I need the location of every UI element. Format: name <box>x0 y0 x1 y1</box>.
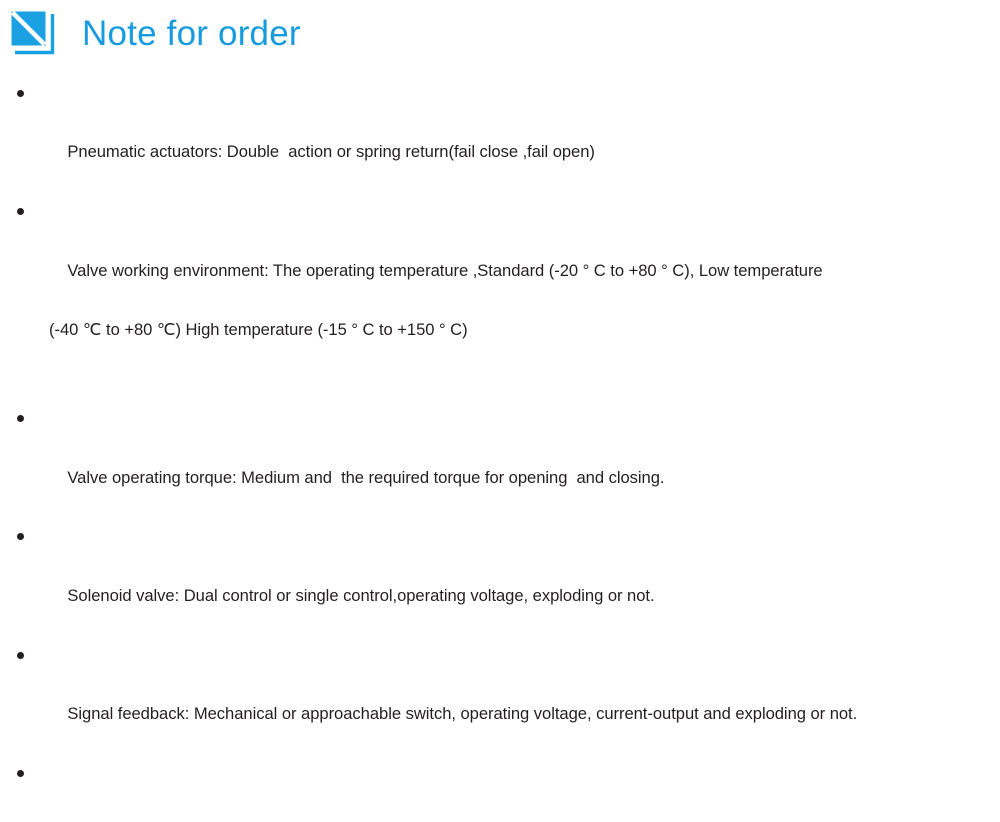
bullet-icon <box>17 90 24 97</box>
page-title: Note for order <box>82 14 301 54</box>
list-item: Signal feedback: Mechanical or approacha… <box>0 640 1000 758</box>
note-for-order-page: Note for order Pneumatic actuators: Doub… <box>0 0 1000 411</box>
note-list: Pneumatic actuators: Double action or sp… <box>0 78 1000 822</box>
list-item: Valve operating torque: Medium and the r… <box>0 404 1000 522</box>
bullet-icon <box>17 770 24 777</box>
list-item-text: Valve working environment: The operating… <box>67 261 822 280</box>
list-item-text: Signal feedback: Mechanical or approacha… <box>67 704 857 723</box>
list-item: Pneumatic actuators: Double action or sp… <box>0 78 1000 196</box>
list-item-text-continued: (-40 ℃ to +80 ℃) High temperature (-15 °… <box>40 315 1000 345</box>
list-item-text: Solenoid valve: Dual control or single c… <box>67 586 654 605</box>
bullet-icon <box>17 415 24 422</box>
square-diagonal-slash-icon <box>11 11 59 59</box>
page-header: Note for order <box>0 0 301 68</box>
list-item: Solenoid valve: Dual control or single c… <box>0 522 1000 640</box>
list-item-text: Valve operating torque: Medium and the r… <box>67 468 664 487</box>
bullet-icon <box>17 533 24 540</box>
bullet-icon <box>17 208 24 215</box>
bullet-icon <box>17 652 24 659</box>
list-item-text: Pneumatic actuators: Double action or sp… <box>67 142 595 161</box>
list-item: Valve working environment: The operating… <box>0 196 1000 403</box>
list-item: Positioner: Pneumatic positioner or elec… <box>0 759 1000 822</box>
